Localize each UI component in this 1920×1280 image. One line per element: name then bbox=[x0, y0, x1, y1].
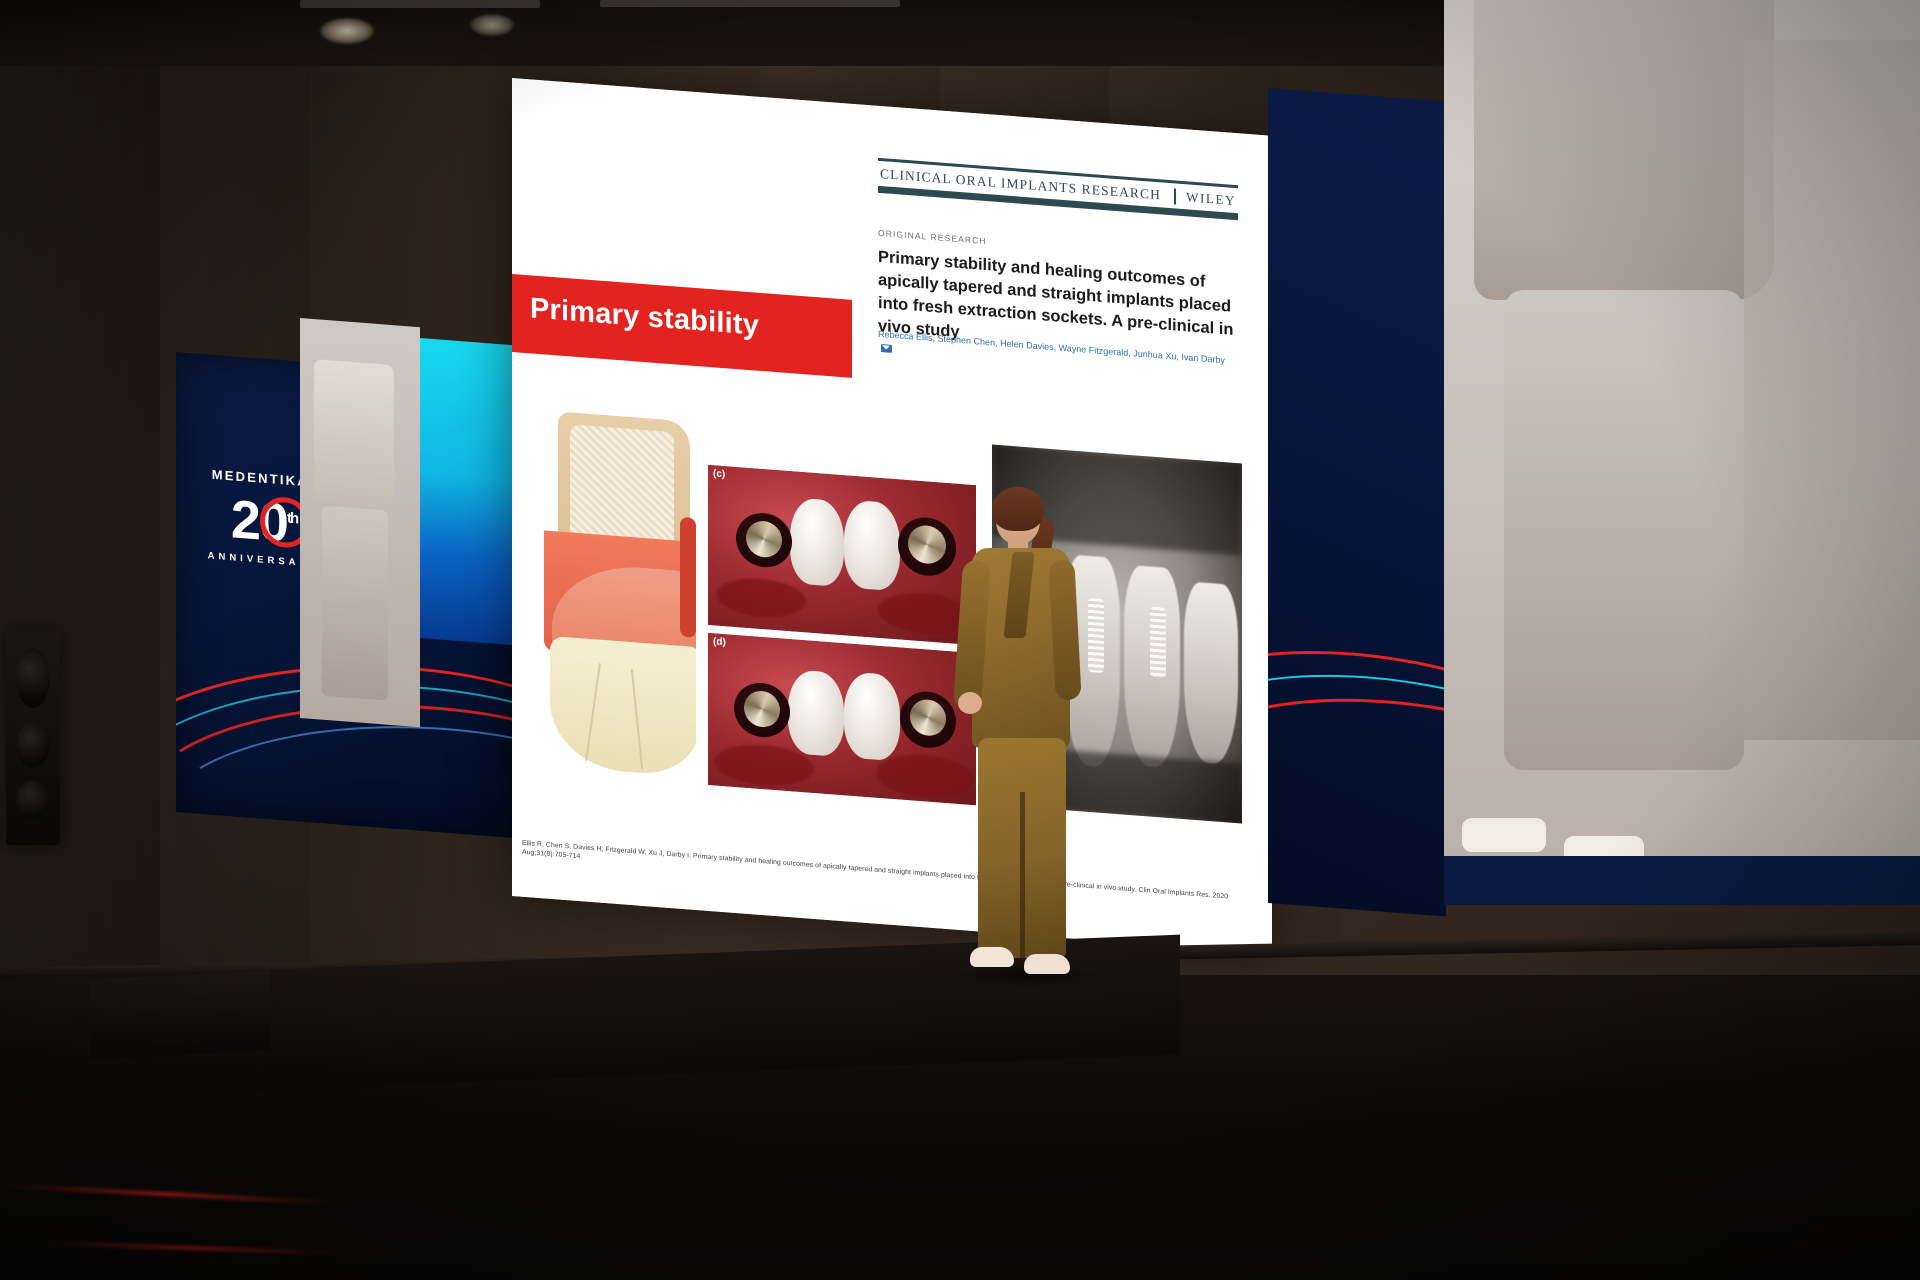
speaker-grill bbox=[16, 780, 50, 820]
bone-anatomy-illustration bbox=[544, 410, 696, 782]
presenter-hair bbox=[992, 487, 1044, 531]
led-wall-far-right-feed bbox=[1444, 0, 1920, 905]
led-wall-cyan-panel bbox=[420, 338, 524, 646]
led-wall-live-feed-left bbox=[300, 318, 420, 727]
led-wall-right-wing bbox=[1268, 88, 1446, 917]
presenter-trouser-seam bbox=[1020, 792, 1025, 960]
ceiling-slot bbox=[600, 0, 900, 7]
stage-riser bbox=[90, 970, 270, 1059]
slide-footer-citation: Ellis R, Chen S, Davies H, Fitzgerald W,… bbox=[522, 839, 1264, 913]
envelope-icon bbox=[881, 344, 892, 353]
presenter-hand bbox=[958, 692, 982, 714]
slide-title: Primary stability bbox=[530, 292, 759, 342]
ceiling-slot bbox=[300, 0, 540, 8]
ceiling-light bbox=[320, 18, 374, 44]
presenter-shoe bbox=[970, 947, 1014, 967]
speaker-grill bbox=[16, 722, 50, 768]
xray-implant bbox=[1150, 607, 1166, 678]
journal-masthead: CLINICAL ORAL IMPLANTS RESEARCH WILEY bbox=[878, 158, 1238, 220]
ceiling-light bbox=[470, 14, 514, 36]
conference-stage-photo: MEDENTIKA® 20th ANNIVERSARY Primary stab… bbox=[0, 0, 1920, 1280]
stage-speaker-cabinet bbox=[6, 630, 60, 845]
figure-label-c: (c) bbox=[713, 468, 725, 480]
figure-label-d: (d) bbox=[713, 636, 726, 648]
clinical-photo-c: (c) bbox=[708, 465, 976, 645]
tooth bbox=[844, 671, 900, 761]
tooth bbox=[790, 497, 844, 587]
tooth bbox=[788, 669, 844, 757]
tooth bbox=[844, 499, 900, 591]
clinical-photo-d: (d) bbox=[708, 633, 976, 805]
wall-panel bbox=[0, 0, 160, 1000]
slide-title-banner: Primary stability bbox=[512, 274, 852, 378]
presenter-shoe bbox=[1024, 954, 1070, 974]
presenter bbox=[952, 492, 1092, 987]
wiley-logo: WILEY bbox=[1174, 188, 1236, 209]
tissue-edge bbox=[680, 517, 696, 638]
article-type-label: ORIGINAL RESEARCH bbox=[878, 228, 987, 246]
speaker-grill bbox=[16, 648, 50, 708]
presentation-slide: Primary stability CLINICAL ORAL IMPLANTS… bbox=[512, 78, 1272, 954]
wave-line bbox=[1268, 672, 1446, 916]
xray-tooth bbox=[1184, 581, 1238, 765]
tooth-root bbox=[550, 636, 696, 777]
